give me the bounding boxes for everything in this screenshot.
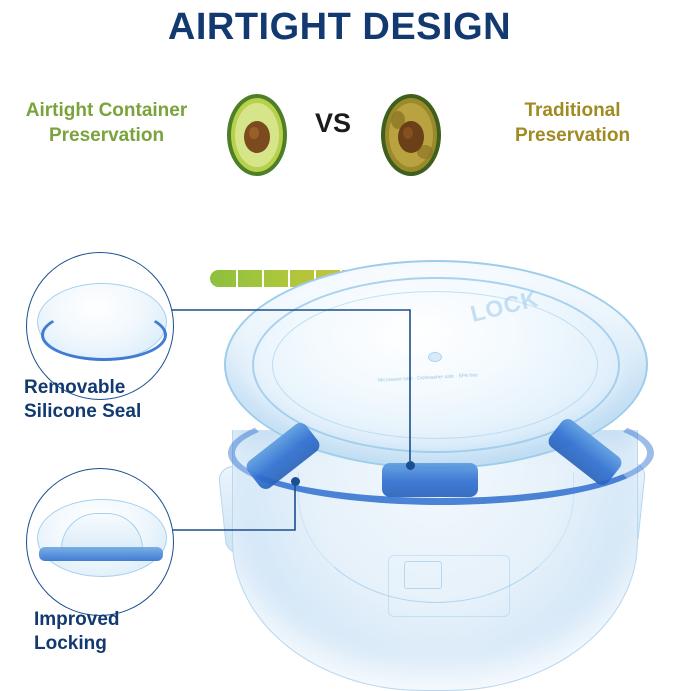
airtight-label-line1: Airtight Container	[26, 100, 188, 121]
callout-seal-line2: Silicone Seal	[24, 401, 141, 422]
airtight-label-line2: Preservation	[49, 125, 164, 146]
infographic-page: AIRTIGHT DESIGN Airtight Container Prese…	[0, 0, 679, 669]
traditional-label-line2: Preservation	[515, 125, 630, 146]
airtight-preservation-label: Airtight Container Preservation	[4, 98, 209, 148]
traditional-preservation-label: Traditional Preservation	[470, 98, 675, 148]
callout-label-removable-silicone-seal: Removable Silicone Seal	[24, 376, 141, 424]
callout-seal-line1: Removable	[24, 377, 125, 398]
page-title: AIRTIGHT DESIGN	[0, 6, 679, 49]
callout-label-improved-locking: Improved Locking	[34, 608, 120, 656]
callout-lock-line2: Locking	[34, 633, 107, 654]
leader-endpoint-lock	[291, 477, 300, 486]
callout-lock-line1: Improved	[34, 609, 120, 630]
versus-label: VS	[302, 108, 364, 139]
seal-closeup-band	[41, 309, 167, 361]
locking-clip-front	[382, 463, 478, 497]
fresh-avocado-icon	[224, 90, 290, 176]
browned-avocado-icon	[378, 90, 444, 176]
traditional-label-line1: Traditional	[524, 100, 620, 121]
lock-closeup-bar	[39, 547, 163, 561]
container-base-symbol	[404, 561, 442, 589]
leader-endpoint-seal	[406, 461, 415, 470]
lid-center-dot	[428, 352, 442, 362]
comparison-band: Airtight Container Preservation Traditio…	[0, 90, 679, 180]
callout-improved-locking	[26, 468, 174, 616]
